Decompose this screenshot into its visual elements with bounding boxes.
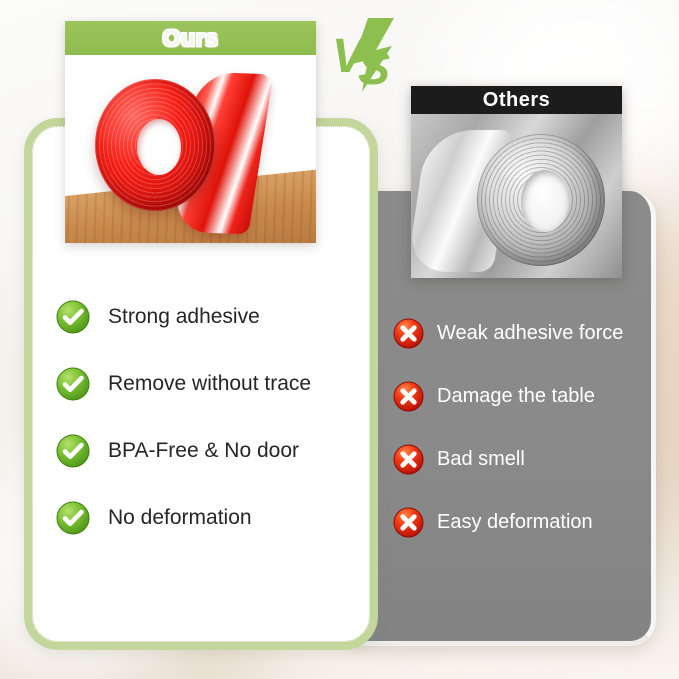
ours-card-title: Ours bbox=[65, 21, 316, 55]
cross-circle-icon bbox=[393, 318, 424, 349]
list-item: Remove without trace bbox=[56, 361, 356, 407]
ours-product-card: Ours bbox=[65, 21, 316, 243]
feature-label: Easy deformation bbox=[437, 511, 593, 534]
ours-feature-list: Strong adhesive Remove without trace bbox=[56, 294, 356, 562]
others-feature-list: Weak adhesive force Damage the table bbox=[393, 312, 658, 564]
cross-circle-icon bbox=[393, 381, 424, 412]
others-product-card: Others bbox=[411, 86, 622, 278]
feature-label: Remove without trace bbox=[108, 372, 311, 396]
list-item: Easy deformation bbox=[393, 501, 658, 543]
feature-label: BPA-Free & No door bbox=[108, 439, 299, 463]
list-item: Damage the table bbox=[393, 375, 658, 417]
feature-label: Weak adhesive force bbox=[437, 322, 623, 345]
feature-label: Damage the table bbox=[437, 385, 595, 408]
feature-label: Bad smell bbox=[437, 448, 525, 471]
list-item: Bad smell bbox=[393, 438, 658, 480]
others-card-title: Others bbox=[411, 86, 622, 114]
vs-lightning-logo: V S bbox=[328, 16, 402, 94]
check-circle-icon bbox=[56, 501, 90, 535]
list-item: Weak adhesive force bbox=[393, 312, 658, 354]
cross-circle-icon bbox=[393, 444, 424, 475]
vs-letter-s: S bbox=[358, 42, 390, 94]
list-item: No deformation bbox=[56, 495, 356, 541]
red-tape-roll bbox=[95, 79, 215, 211]
ours-product-photo bbox=[65, 55, 316, 243]
gray-tape-roll bbox=[477, 134, 605, 266]
others-product-photo bbox=[411, 114, 622, 278]
feature-label: Strong adhesive bbox=[108, 305, 260, 329]
check-circle-icon bbox=[56, 434, 90, 468]
list-item: Strong adhesive bbox=[56, 294, 356, 340]
gray-tape-core bbox=[521, 170, 569, 232]
check-circle-icon bbox=[56, 300, 90, 334]
feature-label: No deformation bbox=[108, 506, 252, 530]
comparison-infographic: Others Ours V S bbox=[0, 0, 679, 679]
cross-circle-icon bbox=[393, 507, 424, 538]
check-circle-icon bbox=[56, 367, 90, 401]
list-item: BPA-Free & No door bbox=[56, 428, 356, 474]
red-tape-core bbox=[137, 119, 181, 175]
